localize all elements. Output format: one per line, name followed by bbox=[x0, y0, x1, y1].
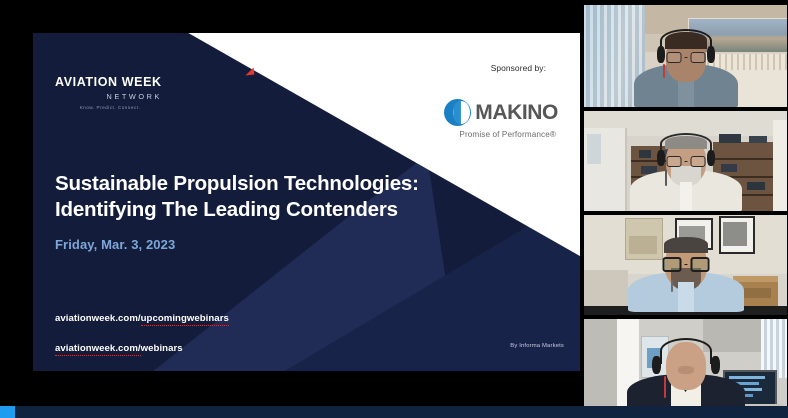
logo-primary-text: AVIATION WEEK bbox=[55, 76, 162, 89]
link-path-2: webinars bbox=[141, 343, 183, 354]
logo-tagline: Know. Predict. Connect. bbox=[55, 105, 165, 110]
link-webinars[interactable]: aviationweek.com/webinars bbox=[55, 343, 229, 354]
aviation-week-logo: AVIATION WEEK NETWORK Know. Predict. Con… bbox=[55, 73, 245, 110]
participant-3-video bbox=[583, 214, 788, 316]
logo-arrow-icon bbox=[245, 68, 255, 76]
makino-tagline: Promise of Performance® bbox=[389, 130, 564, 139]
hair bbox=[664, 237, 708, 253]
participant-3-figure bbox=[625, 236, 747, 312]
glasses-icon bbox=[666, 156, 705, 167]
participant-tile-2[interactable] bbox=[583, 110, 788, 212]
slide-credit: By Informa Markets bbox=[510, 343, 564, 349]
participant-tile-3[interactable] bbox=[583, 214, 788, 316]
participant-tile-1[interactable] bbox=[583, 4, 788, 108]
slide-date: Friday, Mar. 3, 2023 bbox=[55, 237, 455, 252]
link-path-1: upcomingwebinars bbox=[141, 313, 229, 326]
participant-1-figure bbox=[631, 30, 741, 108]
slide-title-block: Sustainable Propulsion Technologies: Ide… bbox=[55, 171, 455, 252]
participant-2-video bbox=[583, 110, 788, 212]
participant-2-figure bbox=[627, 132, 745, 212]
participant-tile-strip bbox=[583, 0, 788, 418]
link-upcoming-webinars[interactable]: aviationweek.com/upcomingwebinars bbox=[55, 313, 229, 324]
presentation-slide[interactable]: AVIATION WEEK NETWORK Know. Predict. Con… bbox=[33, 33, 580, 371]
progress-indicator[interactable] bbox=[0, 406, 15, 418]
link-prefix-2: aviationweek.com/ bbox=[55, 343, 141, 356]
bottom-bar[interactable] bbox=[0, 406, 788, 418]
link-prefix-1: aviationweek.com/ bbox=[55, 313, 141, 324]
glasses-icon bbox=[662, 257, 709, 272]
slide-links: aviationweek.com/upcomingwebinars aviati… bbox=[55, 313, 229, 371]
sponsored-by-label: Sponsored by: bbox=[389, 63, 564, 73]
makino-circle-icon bbox=[444, 99, 471, 126]
glasses-icon bbox=[666, 52, 705, 63]
makino-logo: MAKINO bbox=[389, 99, 564, 126]
participant-tile-4[interactable] bbox=[583, 318, 788, 414]
participant-4-figure bbox=[624, 340, 748, 414]
makino-wordmark: MAKINO bbox=[475, 102, 558, 123]
webinar-window: AVIATION WEEK NETWORK Know. Predict. Con… bbox=[0, 0, 788, 418]
logo-secondary-text: NETWORK bbox=[55, 92, 162, 101]
screen-share-stage[interactable]: AVIATION WEEK NETWORK Know. Predict. Con… bbox=[0, 0, 580, 405]
slide-title-line-2: Identifying The Leading Contenders bbox=[55, 197, 455, 223]
slide-title-line-1: Sustainable Propulsion Technologies: bbox=[55, 171, 455, 197]
sponsor-block: Sponsored by: MAKINO Promise of Performa… bbox=[389, 63, 564, 139]
participant-4-video bbox=[583, 318, 788, 414]
participant-1-video bbox=[583, 4, 788, 108]
